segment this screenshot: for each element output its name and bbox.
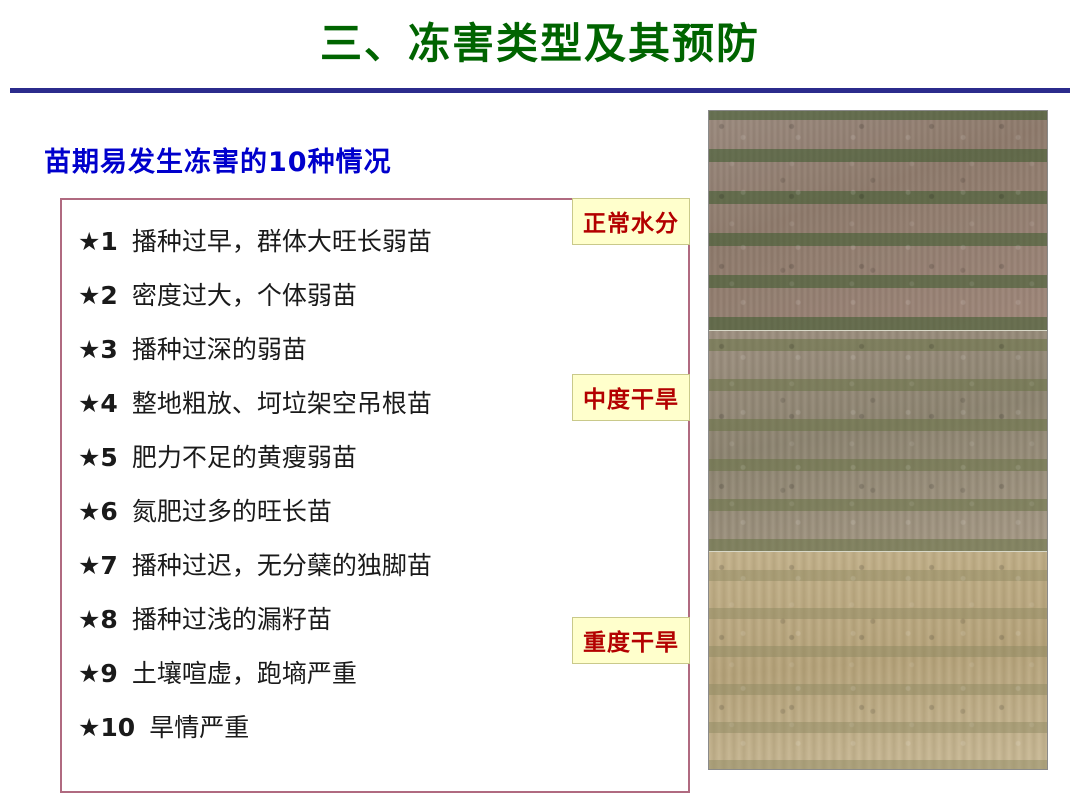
- list-item-label: 土壤喧虚，跑墒严重: [132, 654, 357, 690]
- title-divider: [10, 88, 1070, 93]
- photo-label-severe-drought: 重度干旱: [572, 617, 690, 664]
- list-item-label: 旱情严重: [149, 708, 249, 744]
- list-item: ★2 密度过大，个体弱苗: [78, 276, 678, 330]
- condition-list: ★1 播种过早，群体大旺长弱苗 ★2 密度过大，个体弱苗 ★3 播种过深的弱苗 …: [78, 222, 678, 762]
- list-item-marker: ★7: [78, 551, 118, 580]
- list-item-label: 肥力不足的黄瘦弱苗: [132, 438, 357, 474]
- list-item-marker: ★6: [78, 497, 118, 526]
- list-item-marker: ★4: [78, 389, 118, 418]
- list-item-marker: ★8: [78, 605, 118, 634]
- photo-texture-overlay: [709, 552, 1047, 770]
- list-item-label: 密度过大，个体弱苗: [132, 276, 357, 312]
- list-item-marker: ★9: [78, 659, 118, 688]
- list-item-label: 播种过深的弱苗: [132, 330, 307, 366]
- list-item-label: 播种过浅的漏籽苗: [132, 600, 332, 636]
- slide-canvas: 三、冻害类型及其预防 苗期易发生冻害的10种情况 ★1 播种过早，群体大旺长弱苗…: [0, 0, 1080, 810]
- page-title: 三、冻害类型及其预防: [0, 10, 1080, 71]
- list-item-marker: ★3: [78, 335, 118, 364]
- photo-texture-overlay: [709, 111, 1047, 330]
- list-item-marker: ★2: [78, 281, 118, 310]
- list-item-marker: ★5: [78, 443, 118, 472]
- photo-label-moderate-drought: 中度干旱: [572, 374, 690, 421]
- wheat-seedlings-normal-moisture-photo: [709, 111, 1047, 330]
- wheat-seedlings-severe-drought-photo: [709, 551, 1047, 770]
- photo-label-normal-moisture: 正常水分: [572, 198, 690, 245]
- photo-column: [708, 110, 1048, 770]
- photo-texture-overlay: [709, 331, 1047, 550]
- wheat-seedlings-moderate-drought-photo: [709, 330, 1047, 550]
- list-item: ★6 氮肥过多的旺长苗: [78, 492, 678, 546]
- section-subheading: 苗期易发生冻害的10种情况: [44, 140, 392, 179]
- list-item-label: 整地粗放、坷垃架空吊根苗: [132, 384, 432, 420]
- list-item-label: 播种过迟，无分蘖的独脚苗: [132, 546, 432, 582]
- list-item-label: 氮肥过多的旺长苗: [132, 492, 332, 528]
- list-item: ★5 肥力不足的黄瘦弱苗: [78, 438, 678, 492]
- list-item-marker: ★1: [78, 227, 118, 256]
- list-item-label: 播种过早，群体大旺长弱苗: [132, 222, 432, 258]
- list-item: ★7 播种过迟，无分蘖的独脚苗: [78, 546, 678, 600]
- list-item-marker: ★10: [78, 713, 135, 742]
- list-item: ★10 旱情严重: [78, 708, 678, 762]
